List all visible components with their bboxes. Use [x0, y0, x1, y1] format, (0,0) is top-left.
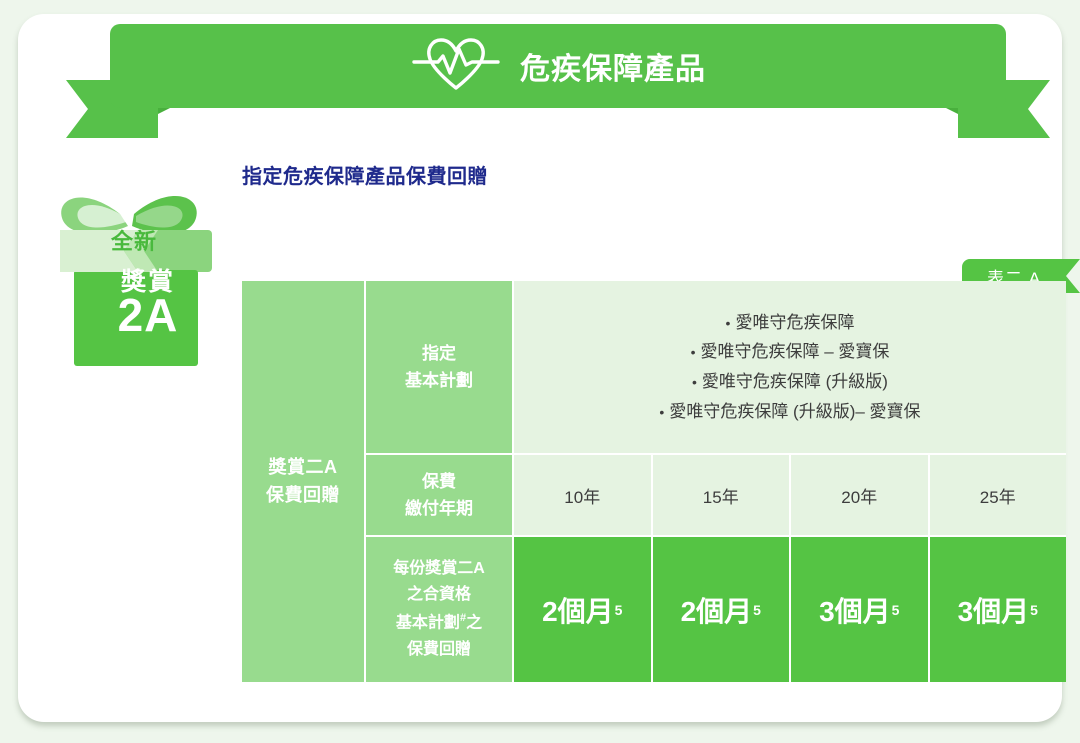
header-rebate-line3: 基本計劃#之 [393, 609, 485, 637]
header-premium-rebate: 每份獎賞二A 之合資格 基本計劃#之 保費回贈 [366, 537, 512, 682]
rebate-cell-10: 2個月5 [514, 537, 651, 682]
header-rebate-line3-tail: 之 [466, 614, 482, 631]
header-designated-plan: 指定 基本計劃 [366, 281, 512, 453]
term-cell-10: 10年 [514, 455, 651, 535]
footnote-marker-5: 5 [1030, 602, 1038, 618]
heart-pulse-icon [410, 35, 502, 98]
footnote-marker-5: 5 [615, 602, 623, 618]
banner-bar: 危疾保障產品 [110, 24, 1006, 108]
content-card: 危疾保障產品 全新 獎賞 2A 指定危疾保障產品保費回贈 [18, 14, 1062, 722]
header-term-line2: 繳付年期 [405, 495, 473, 522]
row-group-label: 獎賞二A 保費回贈 [242, 281, 364, 682]
rebate-cell-20: 3個月5 [791, 537, 928, 682]
rebate-value: 3個月 [958, 590, 1030, 630]
header-term-line1: 保費 [405, 468, 473, 495]
footnote-marker-5: 5 [892, 602, 900, 618]
list-item: 愛唯守危疾保障 [726, 308, 855, 338]
rebate-table: 獎賞二A 保費回贈 指定 基本計劃 愛唯守危疾保障 愛唯守危疾保障 – 愛寶保 … [242, 281, 1066, 678]
term-cell-15: 15年 [653, 455, 790, 535]
header-rebate-line2: 之合資格 [393, 582, 485, 608]
header-rebate-line3-text: 基本計劃 [396, 614, 460, 631]
rebate-value: 3個月 [819, 590, 891, 630]
list-item: 愛唯守危疾保障 (升級版)– 愛寶保 [659, 397, 920, 427]
row-group-label-line1: 獎賞二A [266, 454, 340, 482]
page-background: 危疾保障產品 全新 獎賞 2A 指定危疾保障產品保費回贈 [0, 0, 1080, 743]
header-plan-line1: 指定 [405, 340, 473, 367]
plan-list: 愛唯守危疾保障 愛唯守危疾保障 – 愛寶保 愛唯守危疾保障 (升級版) 愛唯守危… [514, 281, 1066, 453]
banner-title: 危疾保障產品 [520, 44, 706, 88]
header-rebate-line4: 保費回贈 [393, 637, 485, 663]
term-cell-20: 20年 [791, 455, 928, 535]
list-item: 愛唯守危疾保障 (升級版) [692, 367, 888, 397]
term-cell-25: 25年 [930, 455, 1067, 535]
row-group-label-line2: 保費回贈 [266, 482, 340, 510]
header-rebate-line1: 每份獎賞二A [393, 556, 485, 582]
gift-box-icon [48, 152, 238, 367]
header-premium-term: 保費 繳付年期 [366, 455, 512, 535]
rebate-value: 2個月 [681, 590, 753, 630]
footnote-marker-5: 5 [753, 602, 761, 618]
rebate-cell-25: 3個月5 [930, 537, 1067, 682]
banner-header: 危疾保障產品 [18, 14, 1080, 144]
rebate-value: 2個月 [542, 590, 614, 630]
header-plan-line2: 基本計劃 [405, 367, 473, 394]
section-subtitle: 指定危疾保障產品保費回贈 [242, 160, 488, 189]
rebate-cell-15: 2個月5 [653, 537, 790, 682]
list-item: 愛唯守危疾保障 – 愛寶保 [691, 337, 890, 367]
gift-box-badge: 全新 獎賞 2A [48, 152, 238, 367]
